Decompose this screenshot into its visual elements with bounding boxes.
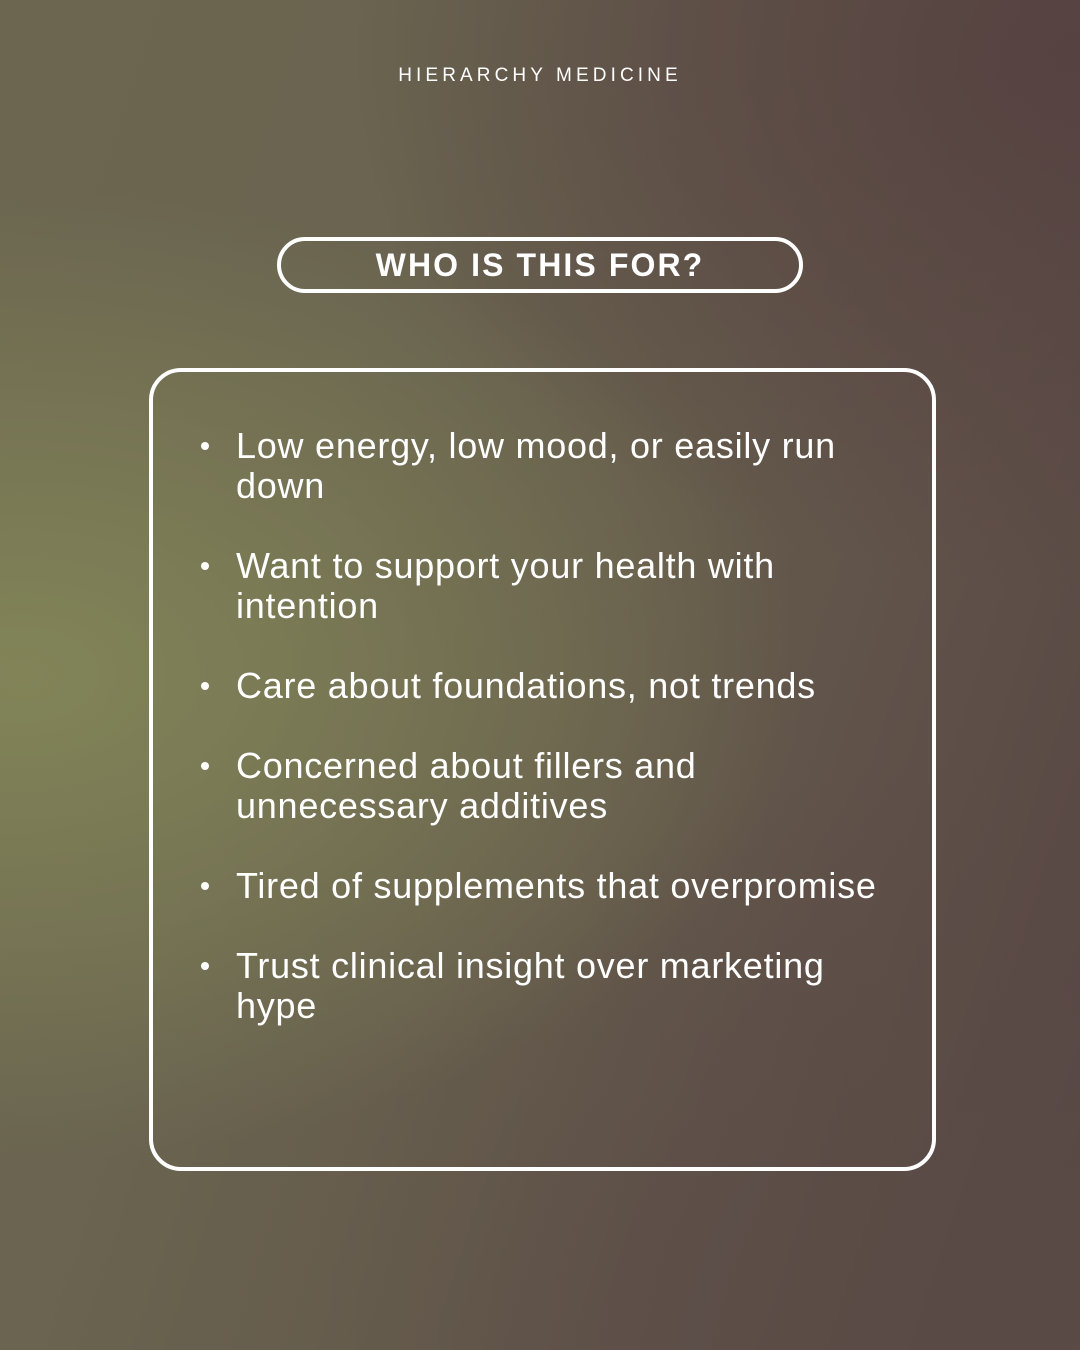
list-item-text: Tired of supplements that overpromise [236, 865, 877, 906]
audience-bullet-list: Low energy, low mood, or easily run down… [193, 426, 886, 1026]
list-item: Want to support your health with intenti… [193, 546, 886, 626]
list-item-text: Concerned about fillers and unnecessary … [236, 745, 697, 826]
bullet-dot-icon [201, 442, 209, 450]
list-item: Care about foundations, not trends [193, 666, 886, 706]
bullet-dot-icon [201, 762, 209, 770]
list-item-text: Care about foundations, not trends [236, 665, 816, 706]
list-item-text: Trust clinical insight over marketing hy… [236, 945, 825, 1026]
section-badge: WHO IS THIS FOR? [277, 237, 803, 293]
bullet-dot-icon [201, 682, 209, 690]
section-badge-label: WHO IS THIS FOR? [376, 249, 705, 281]
list-item-text: Low energy, low mood, or easily run down [236, 425, 836, 506]
audience-card: Low energy, low mood, or easily run down… [149, 368, 936, 1171]
list-item: Concerned about fillers and unnecessary … [193, 746, 886, 826]
bullet-dot-icon [201, 882, 209, 890]
list-item: Low energy, low mood, or easily run down [193, 426, 886, 506]
bullet-dot-icon [201, 562, 209, 570]
brand-wordmark: HIERARCHY MEDICINE [0, 66, 1080, 85]
list-item: Tired of supplements that overpromise [193, 866, 886, 906]
list-item-text: Want to support your health with intenti… [236, 545, 775, 626]
list-item: Trust clinical insight over marketing hy… [193, 946, 886, 1026]
bullet-dot-icon [201, 962, 209, 970]
poster-canvas: HIERARCHY MEDICINE WHO IS THIS FOR? Low … [0, 0, 1080, 1350]
